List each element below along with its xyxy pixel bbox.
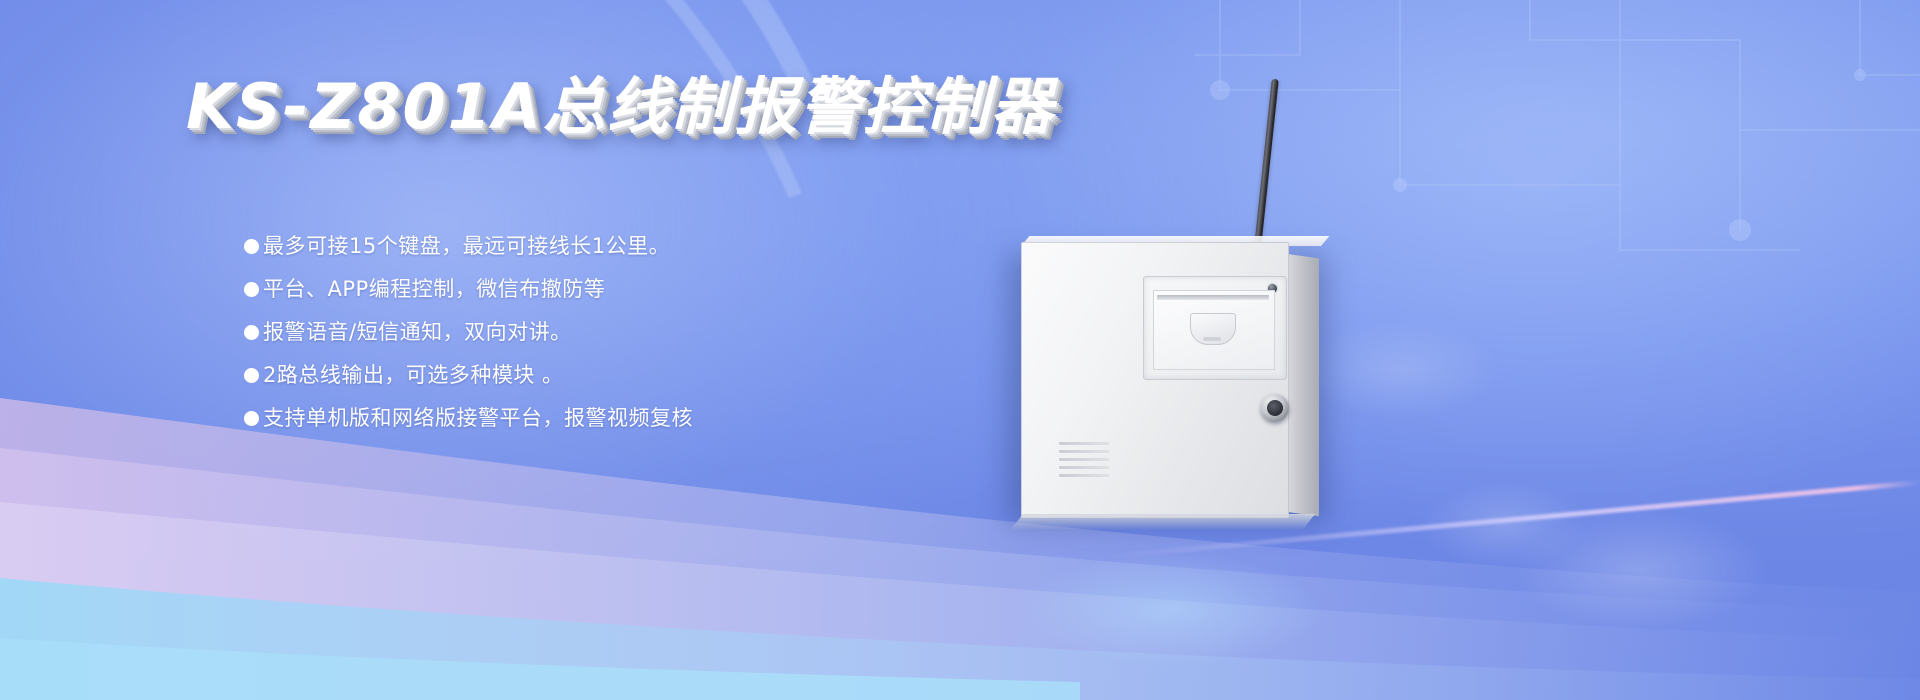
page-title: KS-Z801A总线制报警控制器 [186,76,1055,138]
bullet-dot-icon [244,325,259,340]
enclosure-bottom-face [1010,514,1315,530]
vent-slat [1059,442,1109,445]
panel-recess [1153,290,1275,370]
panel-slot [1157,295,1269,300]
feature-text: 最多可接15个键盘，最远可接线长1公里。 [263,236,670,257]
enclosure-side-face [1285,254,1319,517]
bullet-dot-icon [244,411,259,426]
bullet-dot-icon [244,282,259,297]
feature-text: 2路总线输出，可选多种模块 。 [263,365,564,386]
bullet-dot-icon [244,368,259,383]
feature-text: 平台、APP编程控制，微信布撤防等 [263,279,605,300]
product-banner: KS-Z801A总线制报警控制器 最多可接15个键盘，最远可接线长1公里。 平台… [0,0,1920,700]
enclosure-front-face [1021,242,1289,518]
list-item: 2路总线输出，可选多种模块 。 [244,365,944,386]
list-item: 报警语音/短信通知，双向对讲。 [244,322,944,343]
list-item: 支持单机版和网络版接警平台，报警视频复核 [244,408,944,429]
key-lock-icon [1261,394,1289,422]
panel-knob [1190,313,1236,345]
alarm-control-panel-enclosure [1013,238,1333,528]
list-item: 平台、APP编程控制，微信布撤防等 [244,279,944,300]
vent-slat [1059,450,1109,453]
vent-slat [1059,458,1109,461]
list-item: 最多可接15个键盘，最远可接线长1公里。 [244,236,944,257]
vent-slat [1059,474,1109,477]
keypad-display-panel [1143,276,1287,380]
ventilation-slots [1059,442,1109,482]
bullet-dot-icon [244,239,259,254]
vent-slat [1059,466,1109,469]
feature-text: 报警语音/短信通知，双向对讲。 [263,322,572,343]
feature-list: 最多可接15个键盘，最远可接线长1公里。 平台、APP编程控制，微信布撤防等 报… [244,236,944,451]
feature-text: 支持单机版和网络版接警平台，报警视频复核 [263,408,693,429]
lock-keyway [1271,407,1280,409]
